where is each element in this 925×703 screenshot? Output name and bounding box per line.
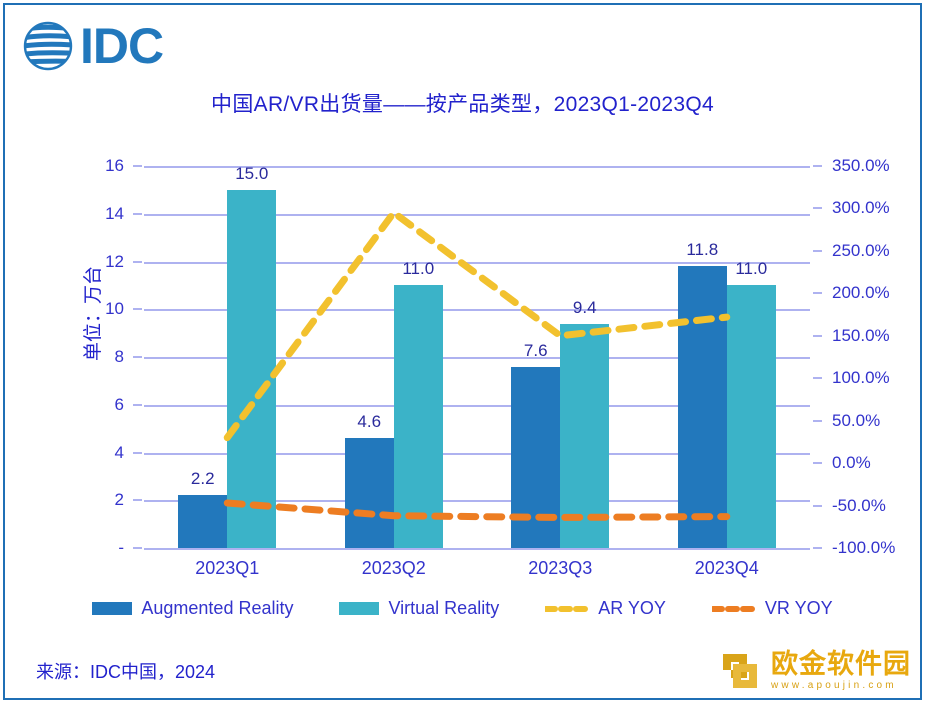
bar-value-label: 11.0	[735, 259, 767, 279]
y2-axis-tick-mark	[813, 505, 822, 507]
x-axis-tick-label: 2023Q2	[362, 558, 426, 579]
y2-axis-tick-label: 150.0%	[832, 326, 890, 346]
y2-axis-tick-label: 200.0%	[832, 283, 890, 303]
y2-axis-tick-label: -100.0%	[832, 538, 895, 558]
y-axis-tick-mark	[133, 165, 142, 167]
y2-axis-tick-label: -50.0%	[832, 496, 886, 516]
chart-legend: Augmented RealityVirtual RealityAR YOYVR…	[0, 598, 925, 619]
x-axis-tick-label: 2023Q4	[695, 558, 759, 579]
bar-value-label: 9.4	[573, 298, 597, 318]
y2-axis-tick-mark	[813, 462, 822, 464]
y-axis-tick-label: 2	[50, 490, 124, 510]
y2-axis-tick-label: 350.0%	[832, 156, 890, 176]
x-axis-tick-label: 2023Q3	[528, 558, 592, 579]
watermark-url: www.apoujin.com	[771, 681, 911, 691]
y2-axis-tick-mark	[813, 420, 822, 422]
bar-value-label: 2.2	[191, 469, 215, 489]
y-axis-tick-mark	[133, 308, 142, 310]
y-axis-tick-mark	[133, 213, 142, 215]
y2-axis-tick-label: 0.0%	[832, 453, 871, 473]
y-axis-tick-label: 14	[50, 204, 124, 224]
legend-color-swatch	[92, 602, 132, 615]
legend-item[interactable]: AR YOY	[545, 598, 666, 619]
y-axis-tick-mark	[133, 356, 142, 358]
line-series	[227, 503, 727, 517]
idc-logo: IDC	[22, 20, 163, 72]
y-axis-tick-label: 16	[50, 156, 124, 176]
source-note: 来源：IDC中国，2024	[36, 658, 215, 684]
legend-color-swatch	[339, 602, 379, 615]
y-axis-tick-label: 10	[50, 299, 124, 319]
y-axis-tick-label: 8	[50, 347, 124, 367]
legend-dash-swatch	[712, 606, 756, 612]
watermark-text: 欧金软件园 www.apoujin.com	[771, 651, 911, 691]
y2-axis-tick-label: 300.0%	[832, 198, 890, 218]
y-axis-tick-label: -	[50, 538, 124, 558]
y2-axis-tick-label: 250.0%	[832, 241, 890, 261]
y2-axis-tick-label: 100.0%	[832, 368, 890, 388]
y2-axis-tick-label: 50.0%	[832, 411, 880, 431]
line-series	[227, 213, 727, 438]
y2-axis-tick-mark	[813, 335, 822, 337]
legend-label: VR YOY	[765, 598, 833, 619]
bar-value-label: 7.6	[524, 341, 548, 361]
y2-axis-tick-mark	[813, 377, 822, 379]
legend-label: Virtual Reality	[388, 598, 499, 619]
legend-item[interactable]: Virtual Reality	[339, 598, 499, 619]
legend-item[interactable]: Augmented Reality	[92, 598, 293, 619]
line-series-group	[144, 166, 810, 548]
y-axis-tick-mark	[133, 404, 142, 406]
idc-wordmark: IDC	[80, 20, 163, 72]
y2-axis-tick-mark	[813, 207, 822, 209]
y2-axis-tick-mark	[813, 292, 822, 294]
watermark-name: 欧金软件园	[771, 651, 911, 678]
watermark-logo-icon	[717, 648, 763, 694]
y2-axis-tick-mark	[813, 165, 822, 167]
x-axis-tick-label: 2023Q1	[195, 558, 259, 579]
y-axis-tick-mark	[133, 261, 142, 263]
y-axis-tick-mark	[133, 499, 142, 501]
y-axis-tick-label: 12	[50, 252, 124, 272]
gridline	[144, 548, 810, 550]
y-axis-tick-mark	[133, 452, 142, 454]
watermark: 欧金软件园 www.apoujin.com	[717, 648, 911, 694]
y-axis-tick-label: 4	[50, 443, 124, 463]
plot-area	[144, 166, 810, 548]
legend-label: AR YOY	[598, 598, 666, 619]
bar-value-label: 11.0	[402, 259, 434, 279]
chart-page: IDC 中国AR/VR出货量——按产品类型，2023Q1-2023Q4 单位：万…	[0, 0, 925, 703]
legend-dash-swatch	[545, 606, 589, 612]
idc-globe-icon	[22, 20, 74, 72]
y-axis-tick-label: 6	[50, 395, 124, 415]
y2-axis-tick-mark	[813, 547, 822, 549]
legend-label: Augmented Reality	[141, 598, 293, 619]
bar-value-label: 4.6	[357, 412, 381, 432]
bar-value-label: 15.0	[235, 164, 268, 184]
chart-title: 中国AR/VR出货量——按产品类型，2023Q1-2023Q4	[0, 88, 925, 118]
legend-item[interactable]: VR YOY	[712, 598, 833, 619]
bar-value-label: 11.8	[686, 240, 718, 260]
y-axis-tick-mark	[133, 547, 142, 549]
y2-axis-tick-mark	[813, 250, 822, 252]
